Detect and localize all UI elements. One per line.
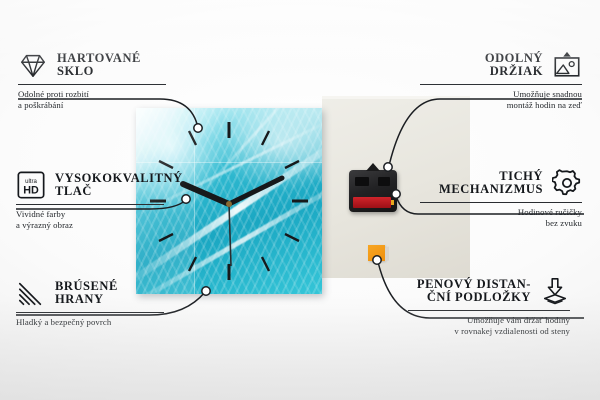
feature-head: BRÚSENÉ HRANY: [16, 278, 164, 308]
feature-head: ODOLNÝ DRŽIAK: [420, 50, 582, 80]
leader-endpoint: [194, 124, 202, 132]
feature-title: VYSOKOKVALITNÝ TLAČ: [55, 172, 183, 199]
feature-desc: Hladký a bezpečný povrch: [16, 317, 164, 328]
feature-brusene-hrany: BRÚSENÉ HRANY Hladký a bezpečný povrch: [16, 278, 164, 328]
leader-endpoint: [202, 287, 210, 295]
leader-endpoint: [392, 190, 400, 198]
ultra-hd-badge-icon: ultra HD: [16, 170, 46, 200]
feature-divider: [408, 310, 570, 311]
gear-icon: [552, 168, 582, 198]
feature-head: TICHÝ MECHANIZMUS: [420, 168, 582, 198]
foam-spacer-icon: [540, 276, 570, 306]
feature-head: ultra HD VYSOKOKVALITNÝ TLAČ: [16, 170, 164, 200]
feature-tichy-mechanizmus: TICHÝ MECHANIZMUS Hodinové ručičky bez z…: [420, 168, 582, 229]
feature-divider: [16, 204, 164, 205]
leader-endpoint: [373, 256, 381, 264]
feature-vysokokvalitny-tlac: ultra HD VYSOKOKVALITNÝ TLAČ Vividné far…: [16, 170, 164, 231]
feature-head: HARTOVANÉ SKLO: [18, 50, 166, 80]
infographic-canvas: HARTOVANÉ SKLO Odolné proti rozbití a po…: [0, 0, 600, 400]
feature-odolny-drziak: ODOLNÝ DRŽIAK Umožňuje snadnou montáž ho…: [420, 50, 582, 111]
feature-title: HARTOVANÉ SKLO: [57, 52, 141, 79]
feature-desc: Hodinové ručičky bez zvuku: [420, 207, 582, 229]
feature-hartovane-sklo: HARTOVANÉ SKLO Odolné proti rozbití a po…: [18, 50, 166, 111]
feature-title: ODOLNÝ DRŽIAK: [485, 52, 543, 79]
feature-divider: [16, 312, 164, 313]
feature-title: TICHÝ MECHANIZMUS: [439, 170, 543, 197]
feature-title: PENOVÝ DISTAN- ČNÍ PODLOŽKY: [417, 278, 531, 305]
feature-desc: Umožňuje snadnou montáž hodin na zeď: [420, 89, 582, 111]
feature-desc: Odolné proti rozbití a poškrábání: [18, 89, 166, 111]
feature-divider: [420, 84, 582, 85]
feature-head: PENOVÝ DISTAN- ČNÍ PODLOŽKY: [408, 276, 570, 306]
feature-divider: [420, 202, 582, 203]
diamond-icon: [18, 50, 48, 80]
brushed-edges-icon: [16, 278, 46, 308]
feature-title: BRÚSENÉ HRANY: [55, 280, 118, 307]
hd-label: HD: [23, 184, 39, 196]
feature-penove-podlozky: PENOVÝ DISTAN- ČNÍ PODLOŽKY Umožňuje vám…: [408, 276, 570, 337]
leader-endpoint: [384, 163, 392, 171]
feature-desc: Vividné farby a výrazný obraz: [16, 209, 164, 231]
picture-frame-hanger-icon: [552, 50, 582, 80]
leader-endpoint: [182, 195, 190, 203]
feature-desc: Umožňuje vám držať hodiny v rovnakej vzd…: [408, 315, 570, 337]
feature-divider: [18, 84, 166, 85]
